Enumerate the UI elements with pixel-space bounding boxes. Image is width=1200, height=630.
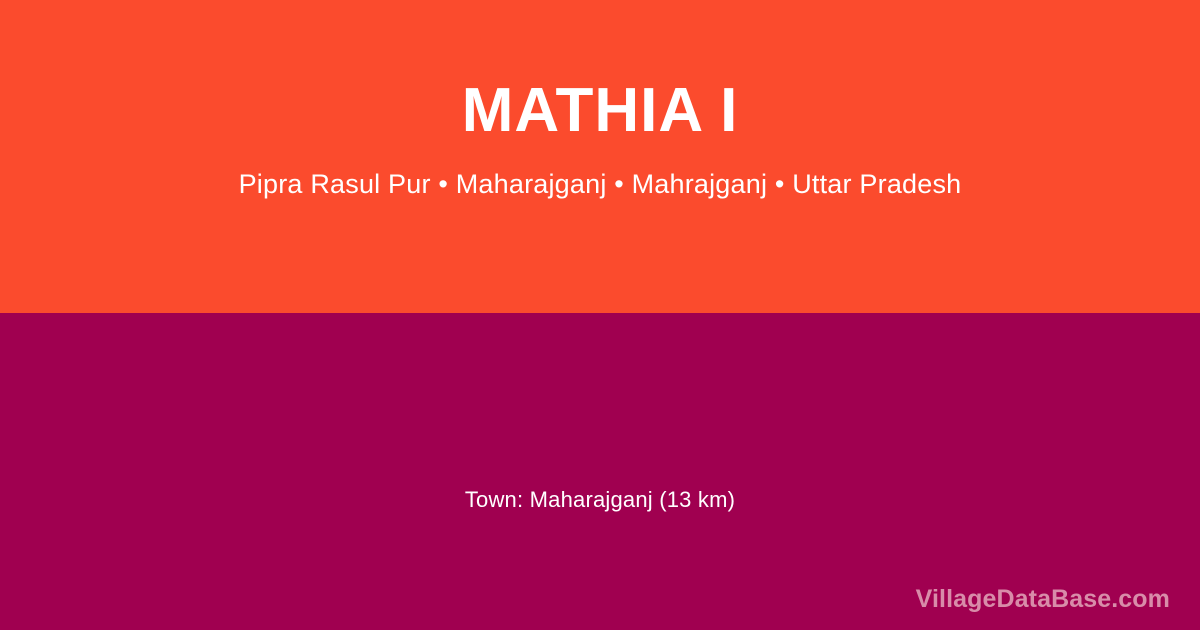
page-title: MATHIA I (462, 78, 739, 143)
hero-banner: MATHIA I Pipra Rasul Pur • Maharajganj •… (0, 0, 1200, 313)
nearest-town-info: Town: Maharajganj (13 km) (0, 487, 1200, 513)
site-watermark: VillageDataBase.com (916, 585, 1170, 614)
village-info-card: MATHIA I Pipra Rasul Pur • Maharajganj •… (0, 0, 1200, 630)
details-panel: Town: Maharajganj (13 km) (0, 313, 1200, 630)
breadcrumb: Pipra Rasul Pur • Maharajganj • Mahrajga… (239, 169, 962, 200)
